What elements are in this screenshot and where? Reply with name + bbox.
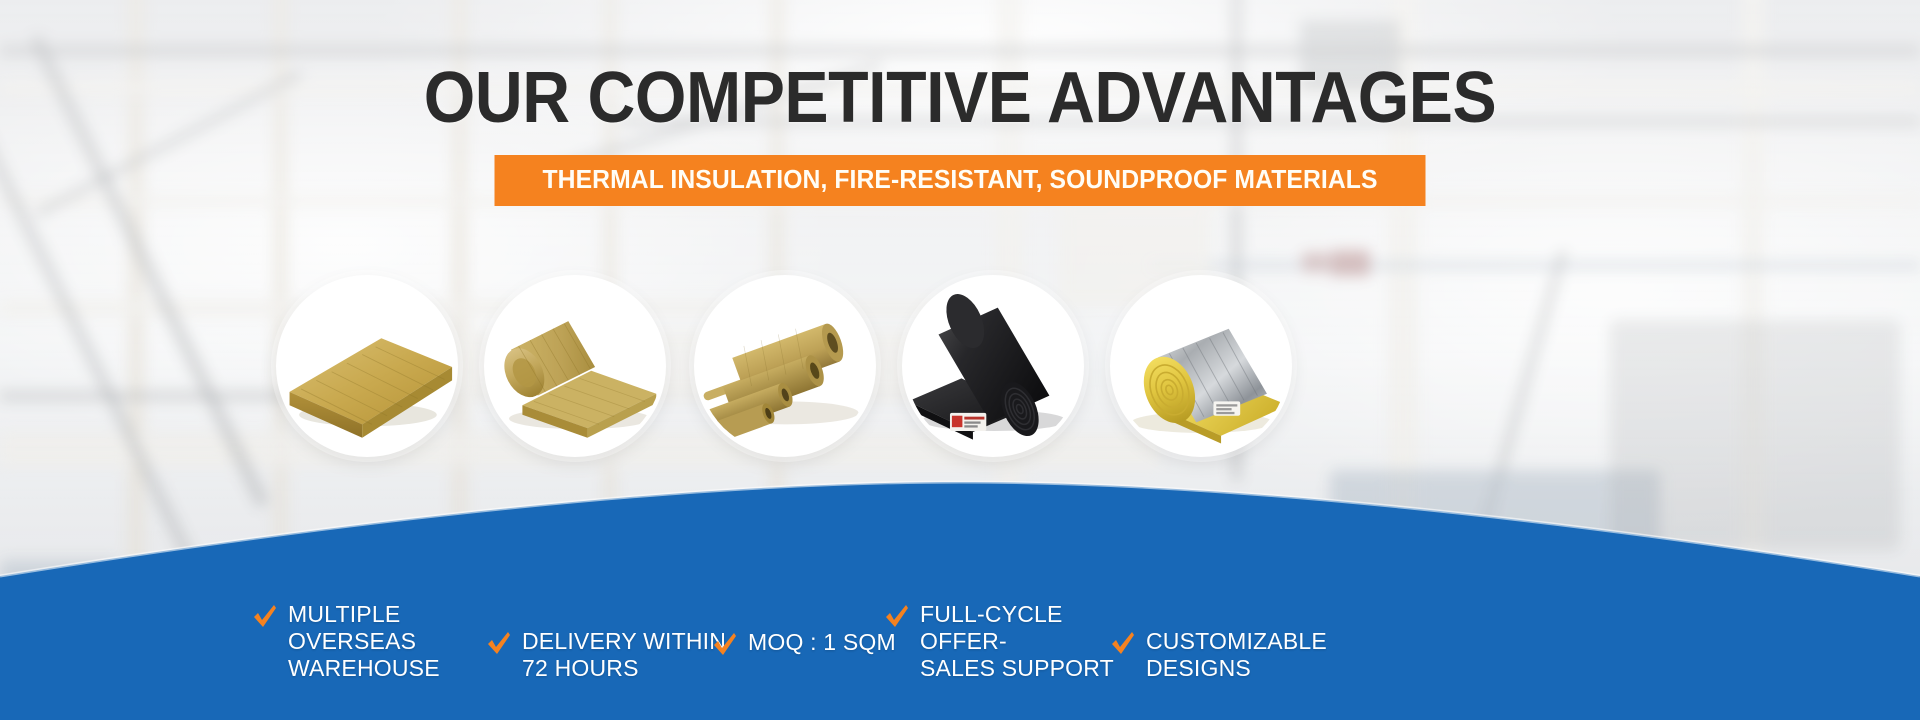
product-circle-rock-wool-board[interactable]: [276, 275, 458, 457]
product-circle-rock-wool-roll[interactable]: [484, 275, 666, 457]
rock-wool-roll-image: [488, 279, 662, 453]
check-icon: [884, 604, 910, 630]
check-icon: [1110, 631, 1136, 657]
feature-item-4: CUSTOMIZABLE DESIGNS: [1110, 628, 1360, 682]
check-icon: [486, 631, 512, 657]
product-circle-rubber-foam-roll[interactable]: [902, 275, 1084, 457]
rock-wool-board-image: [280, 279, 454, 453]
feature-label-1: DELIVERY WITHIN 72 HOURS: [522, 628, 726, 682]
product-circle-glass-wool-roll[interactable]: [1110, 275, 1292, 457]
feature-item-1: DELIVERY WITHIN 72 HOURS: [486, 628, 736, 682]
check-icon: [252, 604, 278, 630]
promo-banner: OUR COMPETITIVE ADVANTAGES THERMAL INSUL…: [0, 0, 1920, 720]
feature-item-0: MULTIPLE OVERSEAS WAREHOUSE: [252, 601, 512, 682]
feature-list: MULTIPLE OVERSEAS WAREHOUSE DELIVERY WIT…: [0, 580, 1920, 720]
product-circle-pipe-sections[interactable]: [694, 275, 876, 457]
check-icon: [712, 632, 738, 658]
feature-label-4: CUSTOMIZABLE DESIGNS: [1146, 628, 1327, 682]
rubber-foam-roll-image: [906, 279, 1080, 453]
feature-label-0: MULTIPLE OVERSEAS WAREHOUSE: [288, 601, 512, 682]
rock-wool-pipe-sections-image: [698, 279, 872, 453]
foil-faced-glass-wool-roll-image: [1114, 279, 1288, 453]
feature-label-2: MOQ : 1 SQM: [748, 629, 896, 656]
feature-item-3: FULL-CYCLE OFFER- SALES SUPPORT: [884, 601, 1144, 682]
